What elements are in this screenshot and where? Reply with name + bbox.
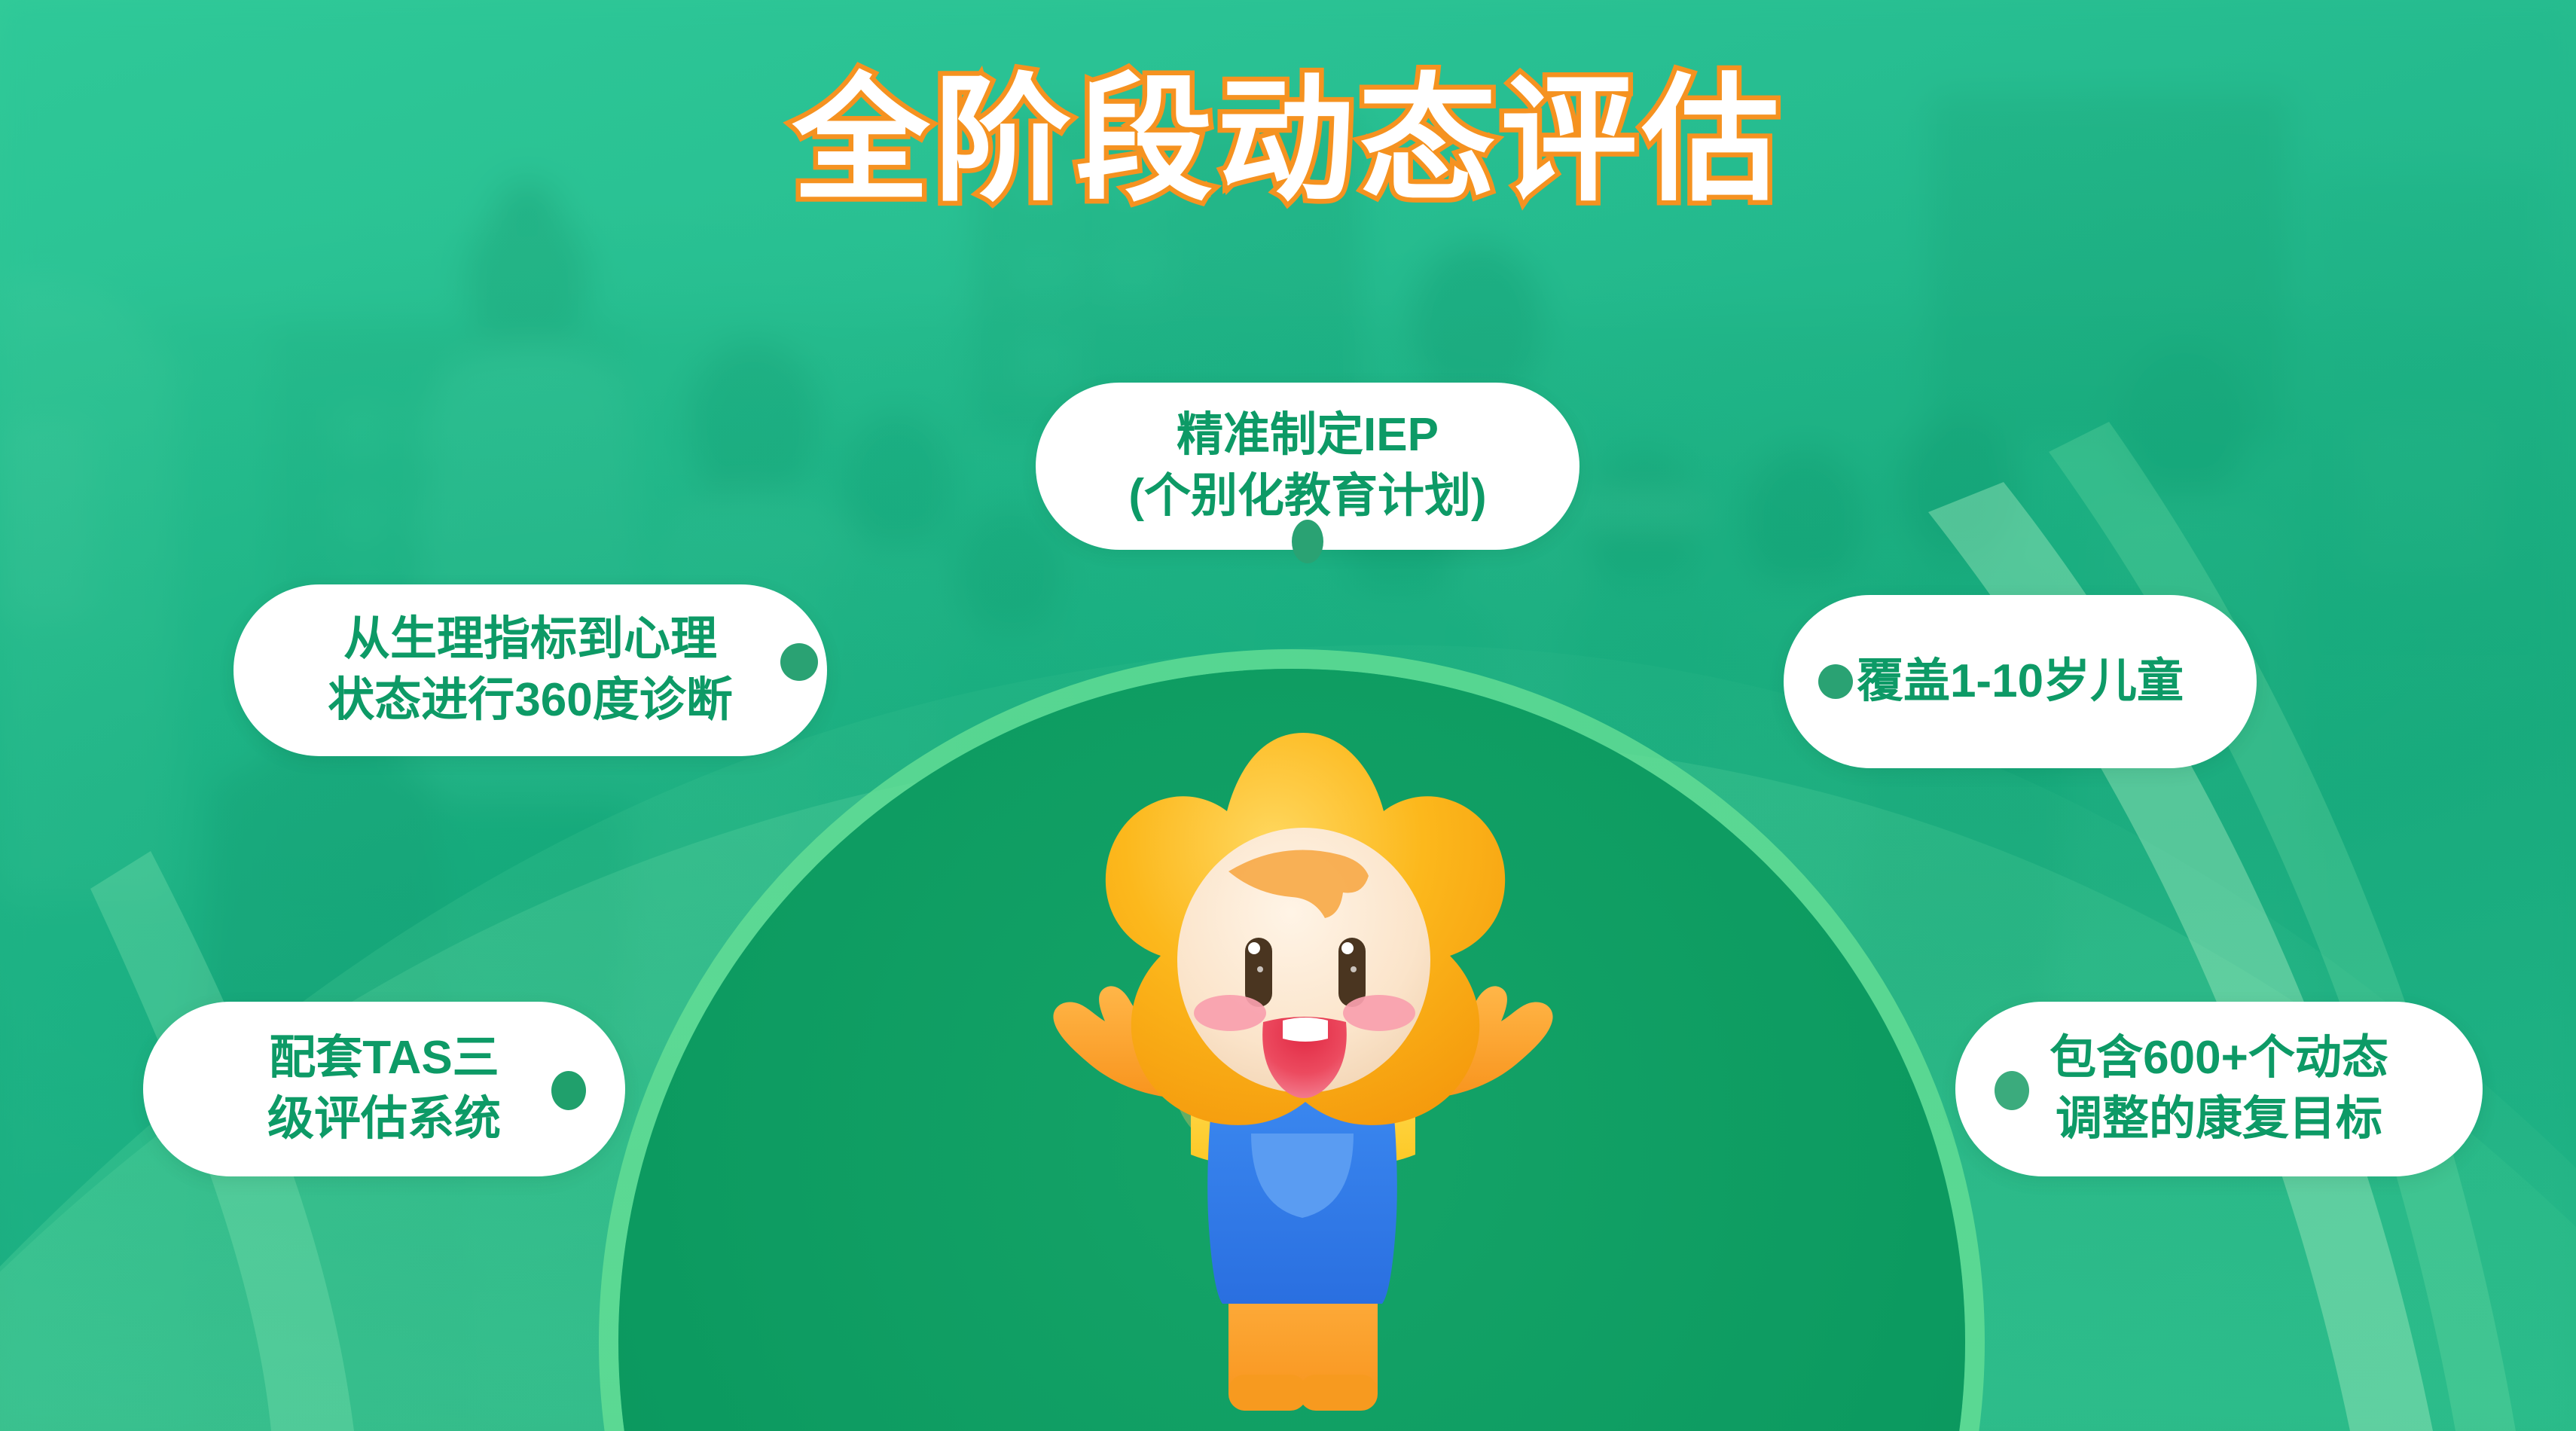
feature-bubble-iep[interactable]: 精准制定IEP (个别化教育计划) — [1036, 383, 1579, 550]
bubble-text-iep: 精准制定IEP (个别化教育计划) — [1128, 405, 1486, 526]
mascot-left-blush — [1194, 995, 1266, 1031]
bubble-dot-icon — [551, 1071, 586, 1110]
bubble-dot-icon — [780, 643, 818, 681]
bubble-text-age-range: 覆盖1-10岁儿童 — [1857, 651, 2184, 712]
poster-canvas: 全阶段动态评估 精准制定IEP (个别化教育计划) 从生理指标到心理 状态进行3… — [0, 0, 2576, 1431]
bubble-text-goals: 包含600+个动态 调整的康复目标 — [2050, 1028, 2388, 1149]
feature-bubble-tas-system[interactable]: 配套TAS三 级评估系统 — [143, 1002, 625, 1176]
bubble-dot-icon — [1818, 664, 1853, 699]
feature-bubble-diagnosis[interactable]: 从生理指标到心理 状态进行360度诊断 — [233, 584, 827, 756]
mascot-teeth — [1283, 1018, 1328, 1042]
bubble-text-diagnosis: 从生理指标到心理 状态进行360度诊断 — [328, 609, 732, 731]
feature-bubble-goals[interactable]: 包含600+个动态 调整的康复目标 — [1955, 1002, 2483, 1176]
bubble-text-tas-system: 配套TAS三 级评估系统 — [267, 1028, 501, 1149]
bubble-dot-icon — [1292, 520, 1323, 563]
bubble-dot-icon — [1995, 1071, 2029, 1110]
feature-bubble-age-range[interactable]: 覆盖1-10岁儿童 — [1784, 595, 2257, 768]
mascot-illustration — [1043, 712, 1563, 1431]
mascot-right-blush — [1343, 995, 1415, 1031]
page-title: 全阶段动态评估 — [0, 66, 2576, 215]
